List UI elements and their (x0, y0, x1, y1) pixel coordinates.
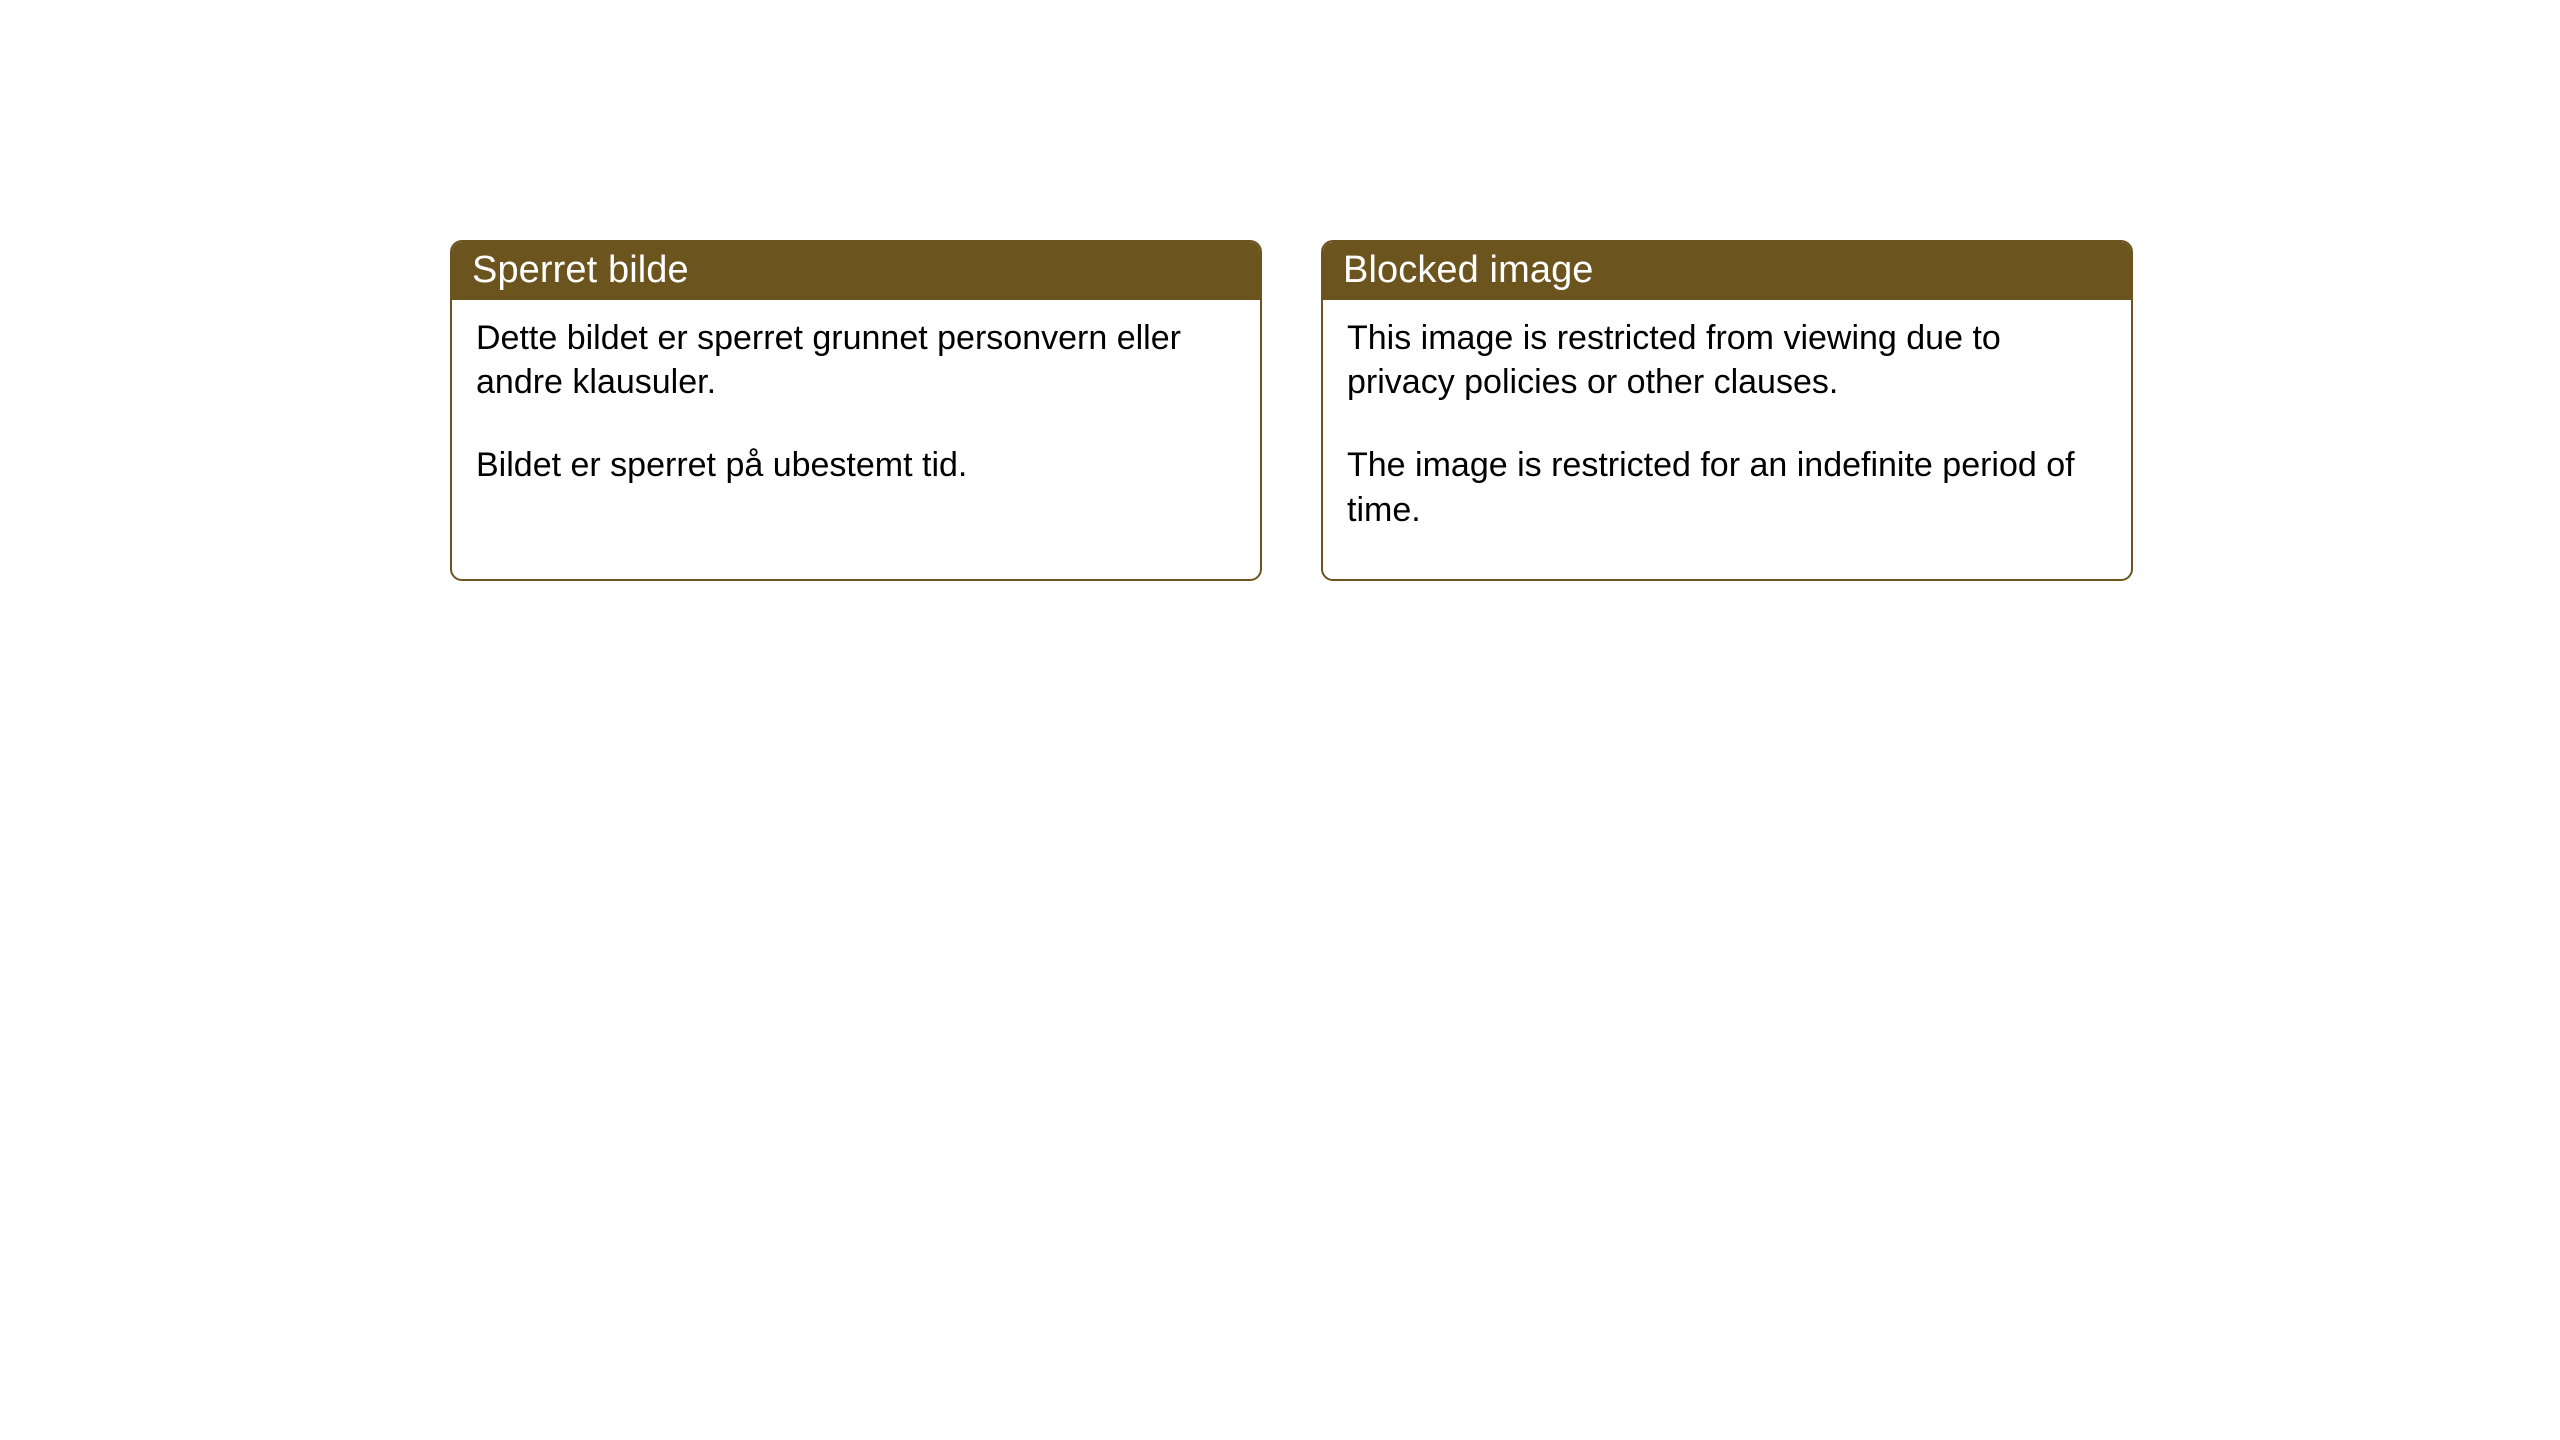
card-body-norwegian: Dette bildet er sperret grunnet personve… (452, 300, 1260, 579)
card-header-norwegian: Sperret bilde (450, 240, 1262, 300)
card-header-english: Blocked image (1321, 240, 2133, 300)
paragraph-spacer (1347, 404, 2109, 443)
card-paragraph-primary-english: This image is restricted from viewing du… (1347, 316, 2109, 404)
card-paragraph-primary-norwegian: Dette bildet er sperret grunnet personve… (476, 316, 1238, 404)
card-title-norwegian: Sperret bilde (472, 251, 689, 289)
page-root: Sperret bilde Dette bildet er sperret gr… (0, 0, 2560, 1440)
paragraph-spacer (476, 404, 1238, 443)
card-title-english: Blocked image (1343, 251, 1594, 289)
blocked-image-card-norwegian: Sperret bilde Dette bildet er sperret gr… (450, 240, 1262, 581)
card-body-english: This image is restricted from viewing du… (1323, 300, 2131, 579)
card-paragraph-secondary-norwegian: Bildet er sperret på ubestemt tid. (476, 443, 1238, 487)
blocked-image-card-english: Blocked image This image is restricted f… (1321, 240, 2133, 581)
card-paragraph-secondary-english: The image is restricted for an indefinit… (1347, 443, 2109, 531)
blocked-image-notice-group: Sperret bilde Dette bildet er sperret gr… (450, 240, 2133, 581)
